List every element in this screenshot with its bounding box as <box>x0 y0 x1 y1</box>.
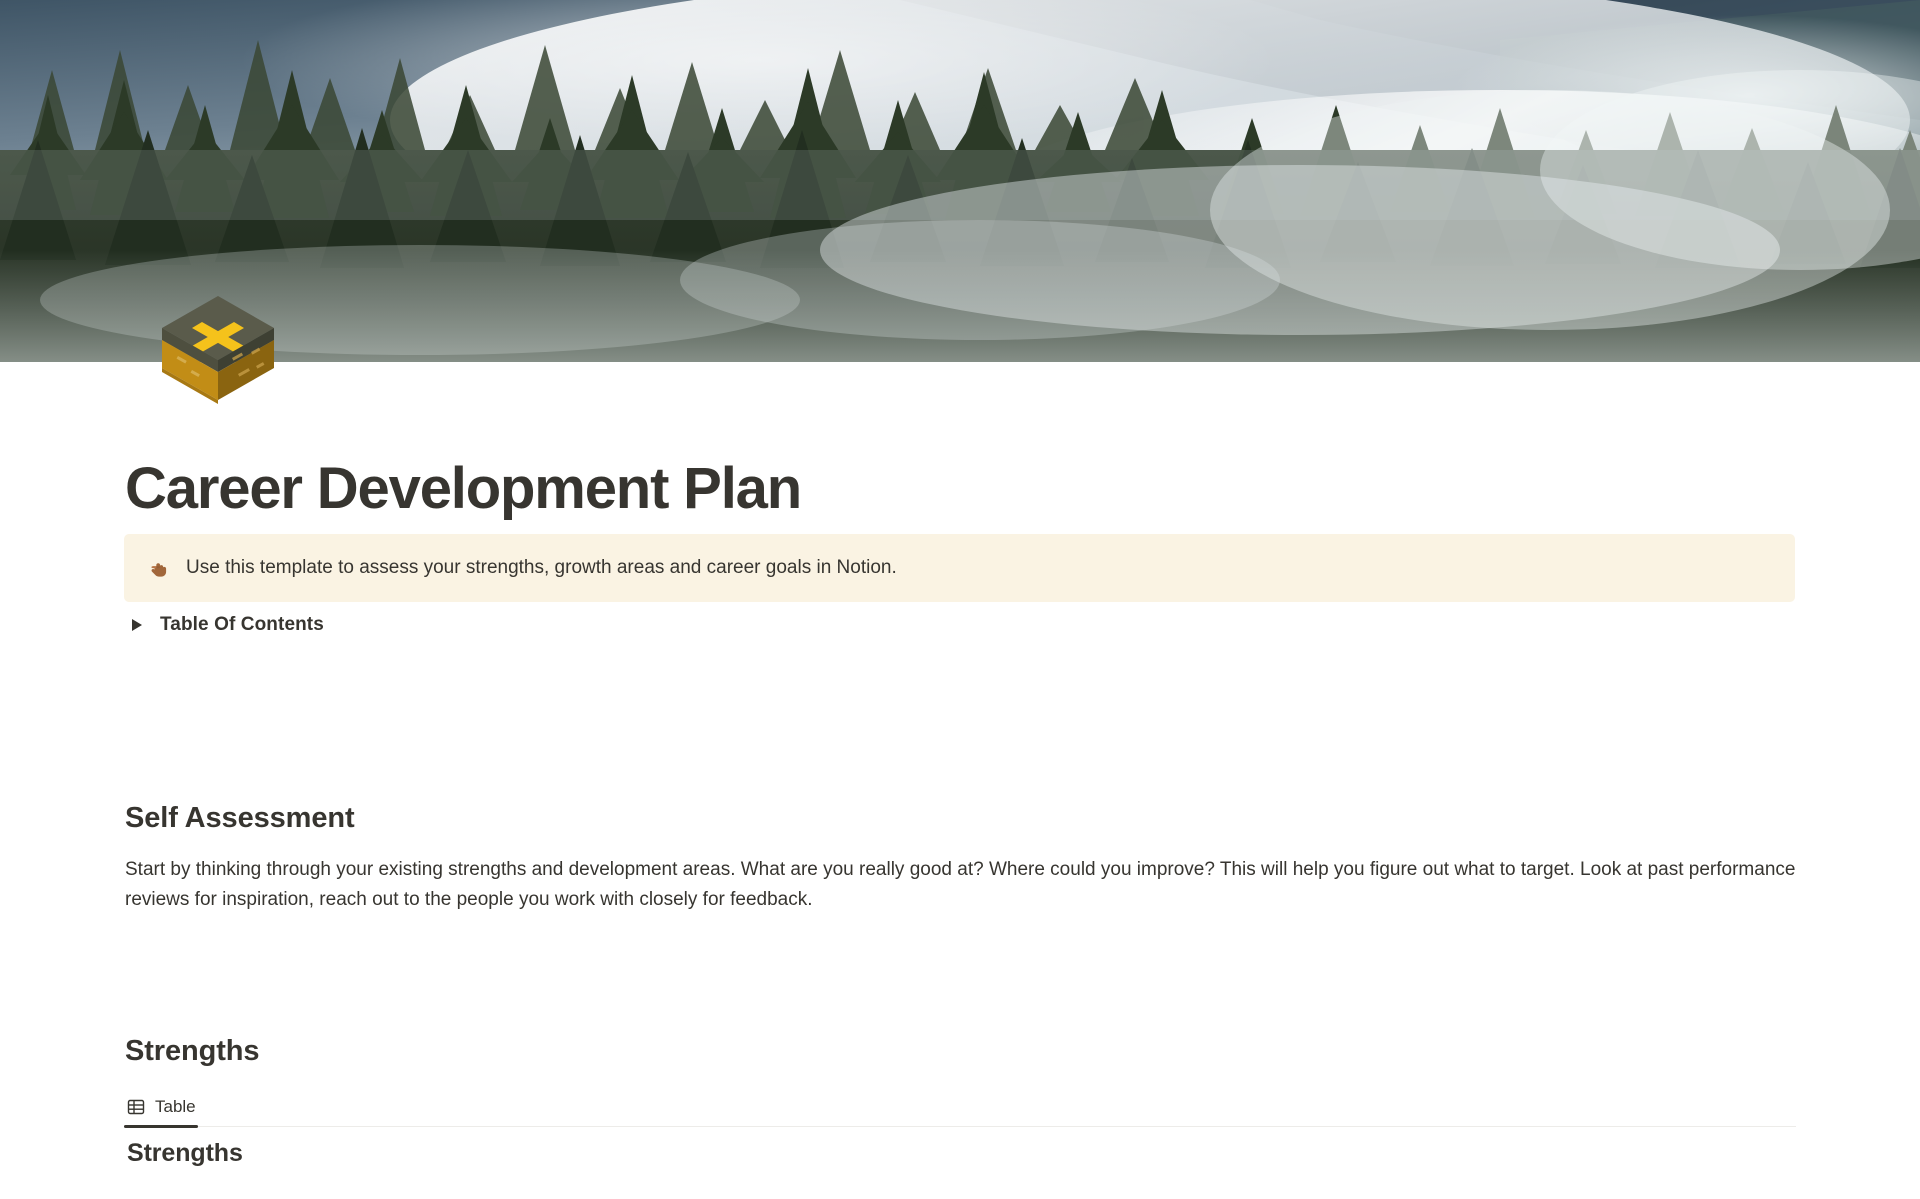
strengths-database-view: Table <box>124 1088 1796 1127</box>
page-cover-image[interactable] <box>0 0 1920 362</box>
table-icon <box>126 1097 146 1117</box>
heading-strengths[interactable]: Strengths <box>125 1035 259 1068</box>
database-view-tabs: Table <box>124 1088 1796 1127</box>
chevron-right-icon[interactable] <box>128 616 146 634</box>
pointing-right-hand-emoji <box>148 555 172 581</box>
heading-self-assessment[interactable]: Self Assessment <box>125 802 355 835</box>
page-icon[interactable] <box>148 278 288 418</box>
page-title[interactable]: Career Development Plan <box>125 457 801 521</box>
tab-table[interactable]: Table <box>124 1088 206 1126</box>
callout-text: Use this template to assess your strengt… <box>186 555 897 581</box>
toggle-table-of-contents[interactable]: Table Of Contents <box>128 614 324 636</box>
database-title[interactable]: Strengths <box>127 1139 243 1168</box>
toggle-label: Table Of Contents <box>160 614 324 636</box>
callout-block[interactable]: Use this template to assess your strengt… <box>124 534 1795 602</box>
self-assessment-paragraph[interactable]: Start by thinking through your existing … <box>125 855 1800 915</box>
tab-table-label: Table <box>155 1097 196 1117</box>
notion-page: Career Development Plan Use this templat… <box>0 0 1920 1199</box>
